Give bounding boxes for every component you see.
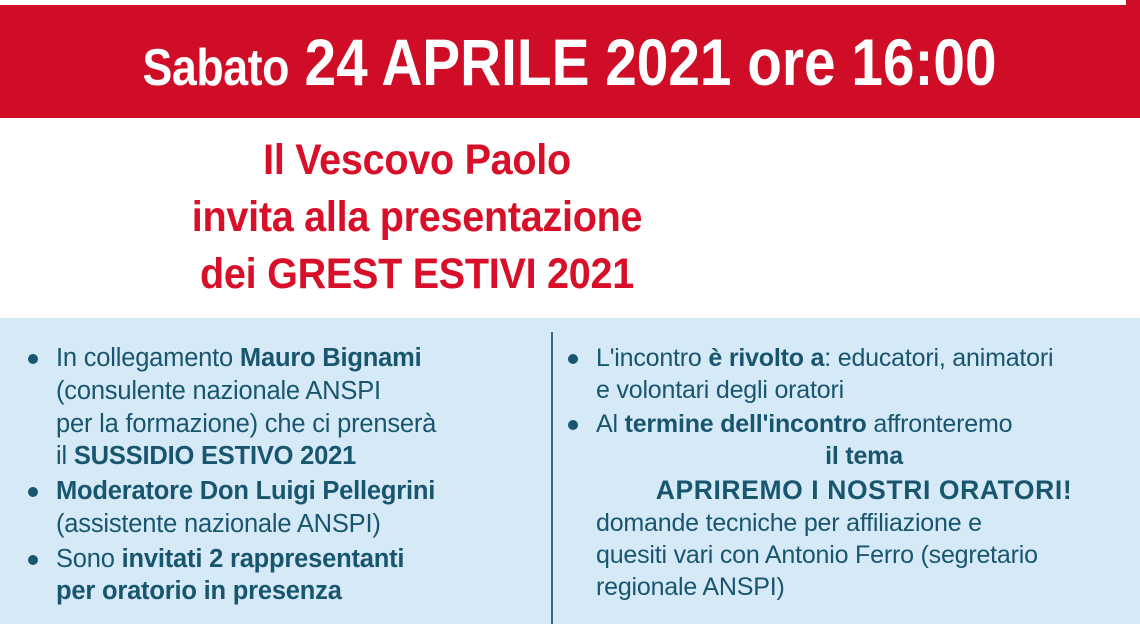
bullet-line: Al termine dell'incontro affronteremo [596,408,1132,440]
bullet-line-bold: il tema [825,442,903,470]
poster-canvas: Sabato 24 APRILE 2021 ore 16:00 Il Vesco… [0,0,1140,624]
bullet-line-bold: Moderatore Don Luigi Pellegrini [56,477,435,505]
bullet-line: il SUSSIDIO ESTIVO 2021 [56,440,536,473]
bullet-line: e volontari degli oratori [596,374,1132,406]
bullet-line: Sono invitati 2 rappresentanti [56,543,536,576]
bullet-item: Al termine dell'incontro affronteremoil … [566,408,1132,603]
date-banner-text: Sabato 24 APRILE 2021 ore 16:00 [143,29,997,95]
bullet-line: (consulente nazionale ANSPI [56,375,536,408]
date-main: 24 APRILE 2021 ore 16:00 [305,29,997,95]
bullet-line-bold: invitati 2 rappresentanti [122,545,405,573]
left-column: In collegamento Mauro Bignami(consulente… [26,318,536,610]
headline-line-3: dei GREST ESTIVI 2021 [33,246,800,303]
bullet-line-bold: è rivolto a [708,344,824,372]
bullet-line: Moderatore Don Luigi Pellegrini [56,475,536,508]
bullet-line-emphasis: APRIREMO I NOSTRI ORATORI! [596,473,1132,507]
bullet-line: per oratorio in presenza [56,575,536,608]
date-banner: Sabato 24 APRILE 2021 ore 16:00 [0,5,1140,118]
info-panel: In collegamento Mauro Bignami(consulente… [0,318,1140,624]
right-bullet-list: L'incontro è rivolto a: educatori, anima… [566,342,1132,603]
bullet-line: domande tecniche per affiliazione e [596,507,1132,539]
bullet-line: L'incontro è rivolto a: educatori, anima… [596,342,1132,374]
bullet-line-bold: per oratorio in presenza [56,577,342,605]
right-column: L'incontro è rivolto a: educatori, anima… [566,318,1132,605]
headline-block: Il Vescovo Paolo invita alla presentazio… [0,118,1140,318]
bullet-line: (assistente nazionale ANSPI) [56,508,536,541]
date-weekday: Sabato [143,42,290,94]
left-bullet-list: In collegamento Mauro Bignami(consulente… [26,342,536,608]
bullet-line: regionale ANSPI) [596,571,1132,603]
bullet-item: Moderatore Don Luigi Pellegrini(assisten… [26,475,536,541]
bullet-line: per la formazione) che ci prenserà [56,408,536,441]
bullet-line-bold: termine dell'incontro [625,410,867,438]
bullet-line: quesiti vari con Antonio Ferro (segretar… [596,539,1132,571]
bullet-line: In collegamento Mauro Bignami [56,342,536,375]
bullet-item: Sono invitati 2 rappresentantiper orator… [26,543,536,609]
bullet-item: L'incontro è rivolto a: educatori, anima… [566,342,1132,406]
bullet-line-bold: SUSSIDIO ESTIVO 2021 [74,442,356,470]
column-divider [551,332,553,624]
bullet-item: In collegamento Mauro Bignami(consulente… [26,342,536,473]
headline-line-1: Il Vescovo Paolo [33,132,800,189]
bullet-line: il tema [596,440,1132,472]
headline-line-2: invita alla presentazione [33,189,800,246]
bullet-line-bold: Mauro Bignami [240,344,422,372]
